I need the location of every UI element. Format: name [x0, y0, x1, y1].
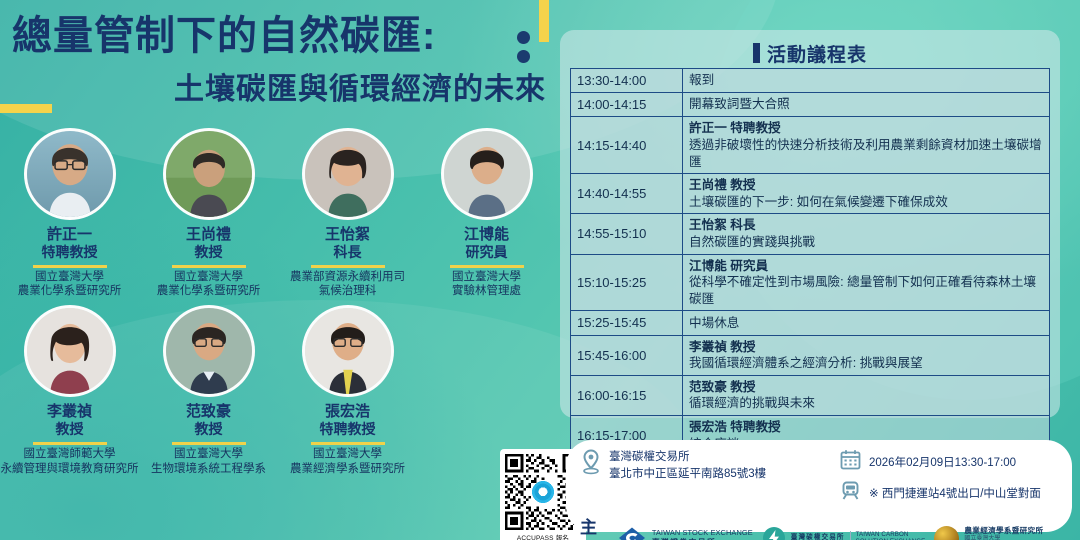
agenda-item: 王尚禮 教授土壤碳匯的下一步: 如何在氣候變遷下確保成效	[683, 174, 1050, 214]
speaker-photo	[163, 128, 255, 220]
transit-note: ※ 西門捷運站4號出口/中山堂對面	[869, 485, 1041, 501]
footer-info-card: 臺灣碳權交易所 臺北市中正區延平南路85號3樓 2026年02月09日13:30…	[566, 440, 1072, 532]
agenda-row: 14:00-14:15開幕致詞暨大合照	[571, 93, 1050, 117]
speaker-position: 特聘教授	[0, 244, 139, 262]
divider	[450, 265, 524, 268]
speaker-org-line1: 國立臺灣大學	[278, 447, 417, 462]
speaker-card: 王尚禮 教授 國立臺灣大學 農業化學系暨研究所	[139, 128, 278, 299]
logo-ntu-agricultural-economics: 農業經濟學系暨研究所 國立臺灣大學 Department of Agricult…	[934, 526, 1058, 540]
poster-title: 總量管制下的自然碳匯: 土壤碳匯與循環經濟的未來	[12, 14, 552, 108]
speaker-name: 許正一	[0, 226, 139, 244]
heading-accent-bar	[753, 43, 760, 63]
speaker-card: 許正一 特聘教授 國立臺灣大學 農業化學系暨研究所	[0, 128, 139, 299]
speaker-org-line2: 生物環境系統工程學系	[139, 462, 278, 477]
agenda-row: 16:00-16:15范致豪 教授循環經濟的挑戰與未來	[571, 375, 1050, 415]
footer-top-row: 臺灣碳權交易所 臺北市中正區延平南路85號3樓 2026年02月09日13:30…	[580, 449, 1058, 506]
train-icon	[840, 480, 861, 506]
agenda-item: 中場休息	[683, 311, 1050, 335]
venue-name: 臺灣碳權交易所	[609, 449, 766, 466]
speaker-position: 教授	[139, 244, 278, 262]
agenda-item: 江博能 研究員從科學不確定性到市場風險: 總量管制下如何正確看待森林土壤碳匯	[683, 254, 1050, 311]
agenda-time: 14:40-14:55	[571, 174, 683, 214]
agenda-time: 14:15-14:40	[571, 117, 683, 174]
agenda-heading: 活動議程表	[570, 38, 1050, 68]
speaker-row-1: 許正一 特聘教授 國立臺灣大學 農業化學系暨研究所 王尚禮 教授 國立臺灣大學 …	[0, 128, 556, 299]
agenda-row: 15:10-15:25江博能 研究員從科學不確定性到市場風險: 總量管制下如何正…	[571, 254, 1050, 311]
agenda-item: 范致豪 教授循環經濟的挑戰與未來	[683, 375, 1050, 415]
location-pin-icon	[580, 449, 602, 480]
speaker-position: 教授	[0, 421, 139, 439]
speaker-name: 王怡絮	[278, 226, 417, 244]
logo-divider	[850, 531, 851, 540]
speaker-org-line1: 國立臺灣大學	[139, 270, 278, 285]
speaker-name: 江博能	[417, 226, 556, 244]
agenda-item: 王怡絮 科長自然碳匯的實踐與挑戰	[683, 214, 1050, 254]
speaker-position: 科長	[278, 244, 417, 262]
speaker-photo	[24, 305, 116, 397]
agenda-time: 13:30-14:00	[571, 69, 683, 93]
venue-block: 臺灣碳權交易所 臺北市中正區延平南路85號3樓	[580, 449, 830, 506]
calendar-icon	[840, 449, 861, 475]
speaker-position: 教授	[139, 421, 278, 439]
event-poster: 總量管制下的自然碳匯: 土壤碳匯與循環經濟的未來 許正一 特聘教授 國立臺灣大學…	[0, 0, 1080, 540]
ntu-dept-zh: 農業經濟學系暨研究所	[964, 527, 1058, 536]
speaker-name: 范致豪	[139, 403, 278, 421]
agenda-topic: 開幕致詞暨大合照	[689, 96, 1043, 113]
divider	[172, 442, 246, 445]
speaker-card: 范致豪 教授 國立臺灣大學 生物環境系統工程學系	[139, 305, 278, 476]
datetime-rows: 2026年02月09日13:30-17:00 ※ 西門捷運站4號出口/中山堂對面	[840, 449, 1041, 506]
speaker-name: 張宏浩	[278, 403, 417, 421]
organizer-row: 主辦 TAIWAN STOCK EXCHANGE 臺灣證券交易所 臺灣碳權交易所…	[580, 513, 1058, 540]
agenda-topic: 報到	[689, 72, 1043, 89]
agenda-speaker: 許正一 特聘教授	[689, 120, 1043, 137]
speaker-photo	[302, 128, 394, 220]
speaker-name: 李叢禎	[0, 403, 139, 421]
agenda-row: 15:45-16:00李叢禎 教授我國循環經濟體系之經濟分析: 挑戰與展望	[571, 335, 1050, 375]
tse-mark-icon	[617, 526, 647, 540]
tcx-logo-text: 臺灣碳權交易所	[791, 534, 845, 540]
logo-taiwan-stock-exchange: TAIWAN STOCK EXCHANGE 臺灣證券交易所	[617, 526, 753, 540]
agenda-speaker: 李叢禎 教授	[689, 339, 1043, 356]
datetime-block: 2026年02月09日13:30-17:00 ※ 西門捷運站4號出口/中山堂對面	[840, 449, 1058, 506]
title-line-2: 土壤碳匯與循環經濟的未來	[12, 64, 552, 108]
speaker-card: 王怡絮 科長 農業部資源永續利用司 氣候治理科	[278, 128, 417, 299]
agenda-speaker: 王怡絮 科長	[689, 217, 1043, 234]
agenda-topic: 中場休息	[689, 315, 1043, 332]
agenda-speaker: 王尚禮 教授	[689, 177, 1043, 194]
agenda-panel: 活動議程表 13:30-14:00報到14:00-14:15開幕致詞暨大合照14…	[560, 30, 1060, 418]
speaker-org-line1: 國立臺灣大學	[0, 270, 139, 285]
agenda-time: 14:00-14:15	[571, 93, 683, 117]
venue-address: 臺北市中正區延平南路85號3樓	[609, 466, 766, 483]
agenda-item: 開幕致詞暨大合照	[683, 93, 1050, 117]
event-datetime: 2026年02月09日13:30-17:00	[869, 454, 1016, 470]
speaker-card: 李叢禎 教授 國立臺灣師範大學 永續管理與環境教育研究所	[0, 305, 139, 476]
divider	[311, 265, 385, 268]
agenda-topic: 從科學不確定性到市場風險: 總量管制下如何正確看待森林土壤碳匯	[689, 274, 1043, 307]
speaker-position: 研究員	[417, 244, 556, 262]
agenda-time: 14:55-15:10	[571, 214, 683, 254]
speaker-org-line2: 永續管理與環境教育研究所	[0, 462, 139, 477]
speaker-card: 江博能 研究員 國立臺灣大學 實驗林管理處	[417, 128, 556, 299]
agenda-topic: 土壤碳匯的下一步: 如何在氣候變遷下確保成效	[689, 194, 1043, 211]
tcx-name-zh: 臺灣碳權交易所	[791, 534, 845, 540]
host-label: 主辦	[580, 513, 608, 540]
ntu-logo-text: 農業經濟學系暨研究所 國立臺灣大學 Department of Agricult…	[964, 527, 1058, 540]
agenda-item: 許正一 特聘教授透過非破壞性的快速分析技術及利用農業剩餘資材加速土壤碳增匯	[683, 117, 1050, 174]
agenda-item: 報到	[683, 69, 1050, 93]
tse-logo-text: TAIWAN STOCK EXCHANGE 臺灣證券交易所	[652, 529, 753, 540]
agenda-speaker: 范致豪 教授	[689, 379, 1043, 396]
logo-taiwan-carbon-solution-exchange: 臺灣碳權交易所 TAIWAN CARBON SOLUTION EXCHANGE	[762, 526, 926, 540]
divider	[33, 265, 107, 268]
agenda-speaker: 張宏浩 特聘教授	[689, 419, 1043, 436]
speaker-photo	[24, 128, 116, 220]
agenda-item: 李叢禎 教授我國循環經濟體系之經濟分析: 挑戰與展望	[683, 335, 1050, 375]
agenda-topic: 自然碳匯的實踐與挑戰	[689, 234, 1043, 251]
tcx-logo-en: TAIWAN CARBON SOLUTION EXCHANGE	[856, 531, 926, 540]
agenda-topic: 我國循環經濟體系之經濟分析: 挑戰與展望	[689, 355, 1043, 372]
agenda-time: 15:25-15:45	[571, 311, 683, 335]
speaker-org-line2: 氣候治理科	[278, 284, 417, 299]
speaker-photo	[163, 305, 255, 397]
agenda-row: 14:55-15:10王怡絮 科長自然碳匯的實踐與挑戰	[571, 214, 1050, 254]
agenda-heading-text: 活動議程表	[767, 40, 867, 67]
tcx-name-en1: TAIWAN CARBON	[856, 531, 926, 538]
agenda-speaker: 江博能 研究員	[689, 258, 1043, 275]
title-line-1: 總量管制下的自然碳匯:	[12, 14, 552, 59]
agenda-row: 13:30-14:00報到	[571, 69, 1050, 93]
speaker-position: 特聘教授	[278, 421, 417, 439]
speaker-org-line1: 國立臺灣大學	[139, 447, 278, 462]
speaker-org-line1: 農業部資源永續利用司	[278, 270, 417, 285]
divider	[33, 442, 107, 445]
speaker-org-line2: 農業經濟學系暨研究所	[278, 462, 417, 477]
venue-text: 臺灣碳權交易所 臺北市中正區延平南路85號3樓	[609, 449, 766, 484]
speaker-org-line2: 農業化學系暨研究所	[139, 284, 278, 299]
speaker-photo	[441, 128, 533, 220]
speaker-org-line1: 國立臺灣師範大學	[0, 447, 139, 462]
speaker-name: 王尚禮	[139, 226, 278, 244]
tcx-mark-icon	[762, 526, 786, 540]
speaker-card: 張宏浩 特聘教授 國立臺灣大學 農業經濟學系暨研究所	[278, 305, 417, 476]
date-row: 2026年02月09日13:30-17:00	[840, 449, 1041, 475]
agenda-time: 16:00-16:15	[571, 375, 683, 415]
agenda-time: 15:10-15:25	[571, 254, 683, 311]
divider	[172, 265, 246, 268]
divider	[311, 442, 385, 445]
ntu-seal-icon	[934, 526, 959, 540]
tse-name-en: TAIWAN STOCK EXCHANGE	[652, 529, 753, 538]
speaker-org-line2: 實驗林管理處	[417, 284, 556, 299]
transit-row: ※ 西門捷運站4號出口/中山堂對面	[840, 480, 1041, 506]
agenda-topic: 透過非破壞性的快速分析技術及利用農業剩餘資材加速土壤碳增匯	[689, 137, 1043, 170]
ntu-univ-zh: 國立臺灣大學	[964, 536, 1058, 540]
agenda-time: 15:45-16:00	[571, 335, 683, 375]
agenda-table: 13:30-14:00報到14:00-14:15開幕致詞暨大合照14:15-14…	[570, 68, 1050, 456]
agenda-row: 15:25-15:45中場休息	[571, 311, 1050, 335]
qr-label: ACCUPASS 報名	[504, 532, 582, 540]
agenda-topic: 循環經濟的挑戰與未來	[689, 395, 1043, 412]
agenda-row: 14:40-14:55王尚禮 教授土壤碳匯的下一步: 如何在氣候變遷下確保成效	[571, 174, 1050, 214]
speaker-org-line2: 農業化學系暨研究所	[0, 284, 139, 299]
agenda-row: 14:15-14:40許正一 特聘教授透過非破壞性的快速分析技術及利用農業剩餘資…	[571, 117, 1050, 174]
speaker-org-line1: 國立臺灣大學	[417, 270, 556, 285]
speaker-row-2: 李叢禎 教授 國立臺灣師範大學 永續管理與環境教育研究所 范致豪 教授 國立臺灣…	[0, 305, 556, 476]
speaker-photo	[302, 305, 394, 397]
speaker-grid: 許正一 特聘教授 國立臺灣大學 農業化學系暨研究所 王尚禮 教授 國立臺灣大學 …	[0, 128, 556, 477]
